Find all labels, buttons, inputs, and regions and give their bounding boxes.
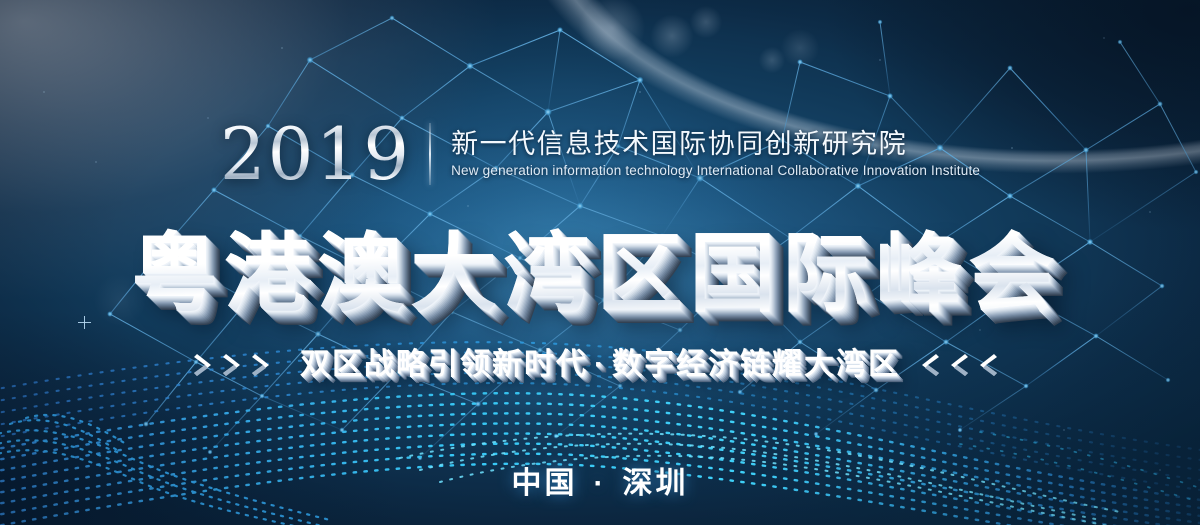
- banner-content: 2019 新一代信息技术国际协同创新研究院 New generation inf…: [0, 0, 1200, 525]
- tagline-row: 双区战略引领新时代·数字经济链耀大湾区: [0, 344, 1200, 386]
- main-headline: 粤港澳大湾区国际峰会: [132, 231, 1069, 317]
- location-row: 中国·深圳: [0, 462, 1200, 506]
- summit-banner: 2019 新一代信息技术国际协同创新研究院 New generation inf…: [0, 0, 1200, 525]
- city-name: 深圳: [623, 467, 689, 500]
- institute-block: 新一代信息技术国际协同创新研究院 New generation informat…: [451, 131, 980, 178]
- tagline-left-text: 双区战略引领新时代: [300, 348, 588, 381]
- chevron-right-triple-icon: [194, 351, 278, 379]
- institute-name-en: New generation information technology In…: [451, 164, 980, 178]
- year-and-institute-row: 2019 新一代信息技术国际协同创新研究院 New generation inf…: [0, 112, 1200, 196]
- headline-row: 粤港澳大湾区国际峰会: [0, 222, 1200, 326]
- tagline-right-text: 数字经济链耀大湾区: [612, 348, 900, 381]
- country-name: 中国: [512, 467, 578, 500]
- tagline-text: 双区战略引领新时代·数字经济链耀大湾区: [300, 350, 900, 380]
- tagline-separator: ·: [588, 348, 612, 381]
- chevron-left-triple-icon: [922, 351, 1006, 379]
- vertical-divider: [429, 123, 431, 185]
- location-separator: ·: [578, 467, 623, 500]
- location-text: 中国·深圳: [512, 469, 689, 499]
- institute-name-cn: 新一代信息技术国际协同创新研究院: [451, 131, 980, 158]
- year-text: 2019: [220, 118, 417, 190]
